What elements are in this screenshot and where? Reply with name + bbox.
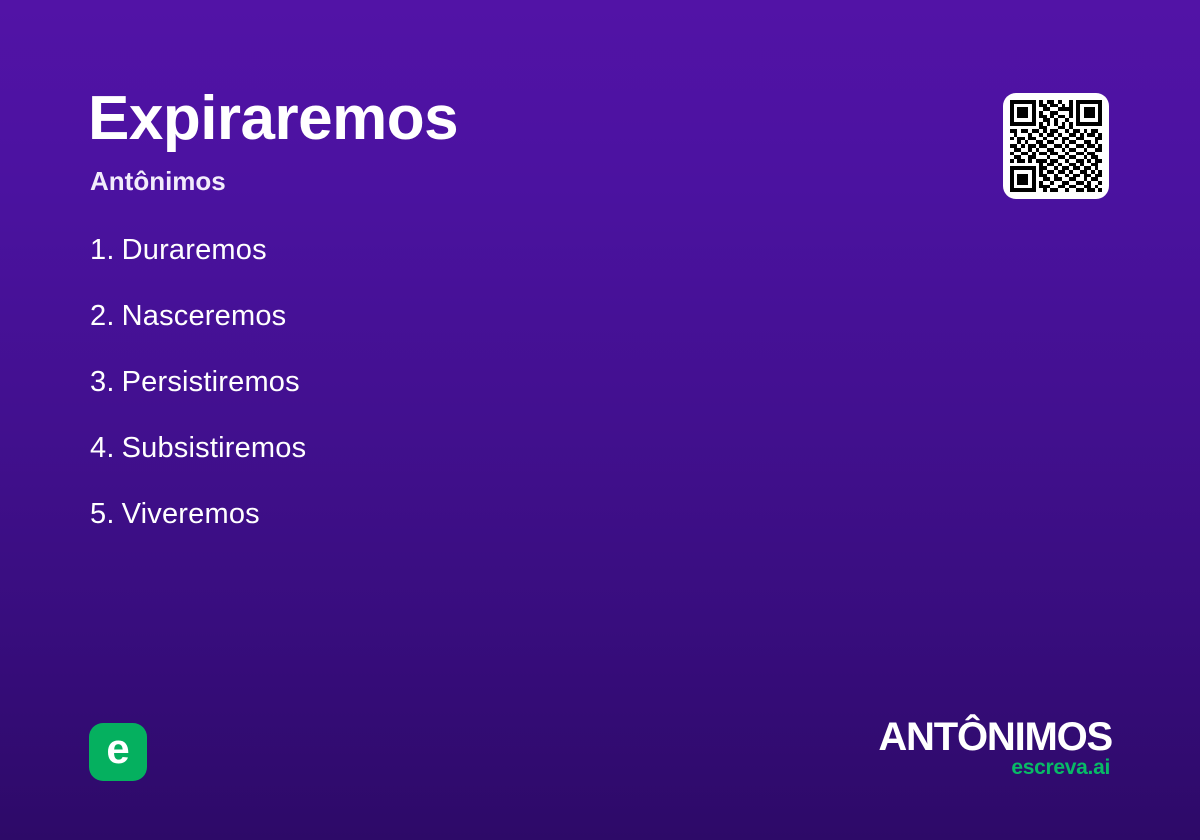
list-item: 2.Nasceremos xyxy=(90,302,306,331)
list-item: 3.Persistiremos xyxy=(90,368,306,397)
list-item-number: 5. xyxy=(90,498,115,530)
list-item-number: 3. xyxy=(90,366,115,398)
list-item-number: 2. xyxy=(90,300,115,332)
list-item-number: 4. xyxy=(90,432,115,464)
brand-badge-letter: e xyxy=(106,728,129,770)
list-item-word: Persistiremos xyxy=(122,366,300,398)
qr-code[interactable] xyxy=(1003,93,1109,199)
page-subtitle: Antônimos xyxy=(90,168,226,194)
wordmark-title: ANTÔNIMOS xyxy=(878,718,1112,756)
wordmark-domain: escreva.ai xyxy=(878,757,1110,778)
list-item-word: Viveremos xyxy=(122,498,260,530)
antonyms-list: 1.Duraremos2.Nasceremos3.Persistiremos4.… xyxy=(90,236,306,529)
list-item: 4.Subsistiremos xyxy=(90,434,306,463)
list-item: 5.Viveremos xyxy=(90,500,306,529)
antonyms-card: Expiraremos Antônimos 1.Duraremos2.Nasce… xyxy=(0,0,1200,840)
list-item-word: Duraremos xyxy=(122,234,267,266)
list-item-number: 1. xyxy=(90,234,115,266)
page-title: Expiraremos xyxy=(88,88,458,150)
qr-code-modules xyxy=(1010,100,1102,192)
list-item-word: Subsistiremos xyxy=(122,432,307,464)
list-item: 1.Duraremos xyxy=(90,236,306,265)
list-item-word: Nasceremos xyxy=(122,300,287,332)
brand-wordmark: ANTÔNIMOS escreva.ai xyxy=(878,718,1112,778)
escreva-ai-logo-badge[interactable]: e xyxy=(89,723,147,781)
